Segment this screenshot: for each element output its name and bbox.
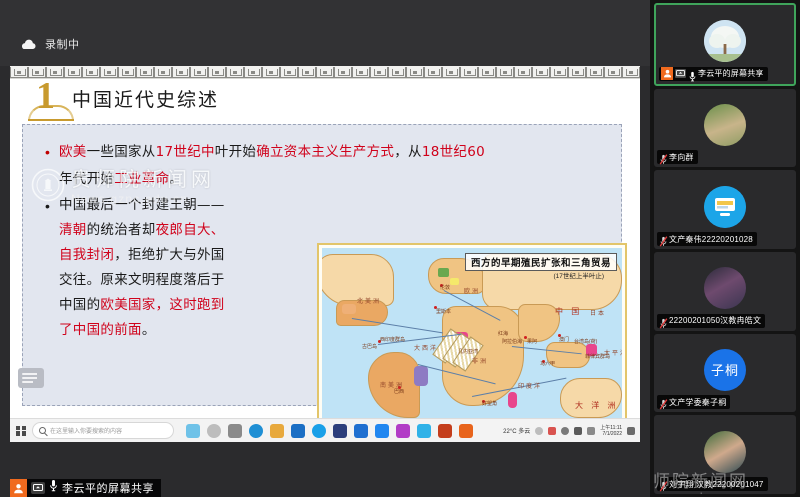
body-text: 。	[142, 322, 156, 338]
participant-tile[interactable]: 22200201050汉教冉皓文	[654, 252, 796, 331]
participant-name: 文产学委秦子桐	[669, 397, 726, 408]
task-view-icon[interactable]	[228, 424, 242, 438]
mic-muted-icon	[659, 234, 667, 244]
participant-name: 22200201050汉教冉皓文	[669, 315, 761, 326]
weather-app-icon[interactable]	[186, 424, 200, 438]
mic-muted-icon	[659, 152, 667, 162]
body-text: 中国的	[59, 297, 100, 313]
list-icon[interactable]	[18, 368, 44, 388]
bullet-item: •欧美一些国家从17世纪中叶开始确立资本主义生产方式，从18世纪60年代开始工业…	[45, 139, 615, 193]
participant-name: 李云平的屏幕共享	[698, 68, 764, 79]
map-label: 古巴岛	[362, 343, 377, 350]
tray-app-icon[interactable]	[548, 427, 556, 435]
body-text: ，从	[394, 144, 422, 160]
participant-tile[interactable]: 李向群	[654, 89, 796, 168]
map-label: 西印度群岛	[380, 336, 405, 343]
map-label: 中 国	[555, 306, 582, 317]
edge-icon[interactable]	[249, 424, 263, 438]
body-text: 叶开始	[215, 144, 256, 160]
colony-patch-britain	[438, 268, 449, 277]
fret-tile	[514, 67, 532, 78]
mic-muted-icon	[659, 397, 667, 407]
notification-center-icon[interactable]	[627, 427, 635, 435]
colony-patch-spain-mexico	[342, 304, 356, 314]
fret-tile	[550, 67, 568, 78]
map-title: 西方的早期殖民扩张和三角贸易	[465, 253, 617, 271]
shared-screen-area: 录制中 1 中国近代史综述 •欧美一些国家从17世纪中叶开始确立资本主义生产方式…	[0, 0, 650, 497]
map-label: 好望角	[482, 400, 497, 407]
map-label: 巴西	[394, 388, 404, 395]
fret-tile	[604, 67, 622, 78]
colony-patch-dutch-africa	[508, 392, 517, 408]
decorative-fret-border	[10, 66, 640, 79]
participant-sidebar[interactable]: 李云平的屏幕共享李向群文产秦伟2222020102822200201050汉教冉…	[650, 0, 800, 497]
search-placeholder: 在这里输入你要搜索的内容	[50, 426, 122, 435]
fret-tile	[172, 67, 190, 78]
mic-icon	[688, 69, 696, 79]
map-label: 几内亚湾	[458, 348, 478, 355]
map-label: 里斯本	[436, 308, 451, 315]
body-text: 的统治者却	[87, 222, 156, 238]
bullet-text: 欧美一些国家从17世纪中叶开始确立资本主义生产方式，从18世纪60年代开始工业革…	[59, 139, 615, 193]
windows-start-icon[interactable]	[10, 426, 32, 436]
fret-tile	[334, 67, 352, 78]
highlight-text: 确立资本主义生产方式	[256, 144, 394, 160]
active-speaker-name: 李云平的屏幕共享	[62, 480, 154, 496]
map-subtitle: (17世纪上半叶止)	[553, 270, 604, 280]
body-text: 中国最后一个封建王朝——	[59, 197, 225, 213]
cloud-icon	[20, 38, 36, 50]
bullet-line: 了中国的前面。	[59, 318, 285, 343]
folder-icon[interactable]	[270, 424, 284, 438]
avatar	[704, 20, 746, 62]
powerpoint-icon[interactable]	[438, 424, 452, 438]
highlight-text: 17世纪中	[156, 144, 215, 160]
slide-content-panel: •欧美一些国家从17世纪中叶开始确立资本主义生产方式，从18世纪60年代开始工业…	[22, 124, 622, 406]
bullet-line: 欧美一些国家从17世纪中叶开始确立资本主义生产方式，从18世纪60	[59, 139, 615, 166]
battery-icon[interactable]	[587, 427, 595, 435]
avatar	[704, 186, 746, 228]
map-label: 伦敦	[440, 284, 450, 291]
participant-name: 李向群	[669, 152, 694, 163]
map-label: 印度洋	[518, 381, 542, 390]
fret-tile	[586, 67, 604, 78]
map-label: 澳门	[559, 336, 569, 343]
weather-readout[interactable]: 22°C 多云	[503, 426, 530, 435]
highlight-text: 18世纪60	[422, 144, 485, 160]
bullet-line: 交往。原来文明程度落后于	[59, 268, 285, 293]
tencent-meeting-icon[interactable]	[375, 424, 389, 438]
highlight-text: 欧美国家，这时跑到	[100, 297, 224, 313]
fret-tile	[478, 67, 496, 78]
body-text: 年代开始	[59, 171, 114, 187]
fret-tile	[460, 67, 478, 78]
bullet-text: 中国最后一个封建王朝——清朝的统治者却夜郎自大、自我封闭，拒绝扩大与外国交往。原…	[59, 193, 285, 343]
mail-icon[interactable]	[354, 424, 368, 438]
screen-share-icon	[31, 482, 45, 494]
mic-muted-icon	[659, 316, 667, 326]
map-label: 台湾岛(荷)	[574, 338, 597, 345]
highlight-text: 欧美	[59, 144, 87, 160]
recording-label: 录制中	[45, 36, 80, 52]
avatar	[704, 267, 746, 309]
fret-tile	[154, 67, 172, 78]
fret-tile	[136, 67, 154, 78]
highlight-text: 了中国的前面	[59, 322, 142, 338]
bullet-line: 中国最后一个封建王朝——	[59, 193, 285, 218]
participant-tile[interactable]: 子桐文产学委秦子桐	[654, 334, 796, 413]
search-icon	[39, 427, 46, 434]
map-label: 日本	[590, 308, 606, 317]
highlight-text: 夜郎自大、	[156, 222, 225, 238]
fret-tile	[208, 67, 226, 78]
map-label: 非洲	[472, 356, 488, 365]
cortana-icon[interactable]	[207, 424, 221, 438]
fret-tile	[388, 67, 406, 78]
map-label: 红海	[498, 330, 508, 337]
bullet-line: 年代开始工业革命。	[59, 166, 615, 193]
search-input[interactable]: 在这里输入你要搜索的内容	[32, 422, 174, 439]
map-label: 马六甲	[540, 360, 555, 367]
highlight-text: 工业革命	[114, 171, 169, 187]
page-title: 中国近代史综述	[72, 85, 219, 112]
active-speaker-tag: 李云平的屏幕共享	[10, 479, 161, 497]
avatar: 子桐	[704, 349, 746, 391]
fret-tile	[262, 67, 280, 78]
slide-numeral-ornament: 1	[28, 81, 76, 121]
fret-tile	[82, 67, 100, 78]
body-text: 。	[169, 171, 183, 187]
fret-tile	[406, 67, 424, 78]
colony-patch-france	[450, 278, 459, 285]
highlight-text: 清朝	[59, 222, 87, 238]
participant-tile[interactable]: 文产秦伟22220201028	[654, 170, 796, 249]
fret-tile	[118, 67, 136, 78]
app-root: 录制中 1 中国近代史综述 •欧美一些国家从17世纪中叶开始确立资本主义生产方式…	[0, 0, 800, 497]
participant-label: 李云平的屏幕共享	[659, 67, 768, 81]
participant-name: 文产秦伟22220201028	[669, 234, 753, 245]
network-icon[interactable]	[561, 427, 569, 435]
taskbar-clock[interactable]: 上午11:11 7/1/2022	[600, 425, 622, 437]
participant-tile[interactable]: 刘宇翔 汉教22200201047贵师院新闻网News.gznc.edu.cn	[654, 415, 796, 494]
host-icon	[10, 479, 27, 497]
system-tray[interactable]: 22°C 多云 上午11:11 7/1/2022	[503, 425, 640, 437]
avatar	[704, 104, 746, 146]
fret-tile	[10, 67, 28, 78]
recording-strip: 录制中	[0, 0, 650, 66]
fret-tile	[190, 67, 208, 78]
recording-indicator: 录制中	[20, 36, 80, 52]
map-label: 欧洲	[464, 286, 480, 295]
bullet-dot-icon: •	[45, 193, 59, 343]
windows-taskbar[interactable]: 在这里输入你要搜索的内容 22°C 多云 上午11:11 7/1/2022	[10, 418, 640, 442]
bullet-line: 自我封闭，拒绝扩大与外国	[59, 243, 285, 268]
ppt-slide: 1 中国近代史综述 •欧美一些国家从17世纪中叶开始确立资本主义生产方式，从18…	[10, 66, 640, 418]
map-canvas: 中 国日本大 洋 洲欧洲非洲北美洲南美洲印度洋大西洋太平洋澳门台湾岛(荷)菲律宾…	[322, 248, 622, 418]
fret-tile	[442, 67, 460, 78]
store-icon[interactable]	[291, 424, 305, 438]
map-label: 菲律宾群岛	[585, 353, 610, 360]
screen-share-icon	[675, 69, 686, 78]
participant-tile[interactable]: 李云平的屏幕共享	[654, 3, 796, 86]
fret-tile	[568, 67, 586, 78]
slide-header: 1 中国近代史综述	[10, 81, 640, 123]
slide-numeral: 1	[36, 77, 55, 115]
fret-tile	[424, 67, 442, 78]
fret-tile	[64, 67, 82, 78]
fret-tile	[496, 67, 514, 78]
fret-tile	[226, 67, 244, 78]
share-bottom-band: 贵师院新闻网 News.gznc.edu.cn	[0, 442, 650, 497]
landmass-australia	[560, 378, 622, 418]
mic-icon	[49, 479, 58, 497]
fan-bar	[28, 119, 74, 121]
fret-tile	[316, 67, 334, 78]
mic-muted-icon	[659, 479, 667, 489]
avatar	[704, 431, 746, 473]
map-label: 大西洋	[414, 343, 438, 352]
photos-icon[interactable]	[417, 424, 431, 438]
participant-label: 文产学委秦子桐	[657, 395, 730, 409]
fret-tile	[298, 67, 316, 78]
fret-tile	[370, 67, 388, 78]
participant-label: 李向群	[657, 150, 698, 164]
w-app-icon[interactable]	[396, 424, 410, 438]
watermark-url: News.gznc.edu.cn	[654, 492, 748, 494]
wps-icon[interactable]	[333, 424, 347, 438]
map-label: 大 洋 洲	[575, 400, 618, 411]
map-label: 果阿	[527, 338, 537, 345]
fret-tile	[352, 67, 370, 78]
fret-tile	[532, 67, 550, 78]
bullet-line: 清朝的统治者却夜郎自大、	[59, 218, 285, 243]
participant-label: 22200201050汉教冉皓文	[657, 314, 765, 328]
highlight-text: 自我封闭	[59, 247, 114, 263]
fret-tile	[244, 67, 262, 78]
taskbar-app-icons[interactable]	[186, 424, 473, 438]
participant-label: 文产秦伟22220201028	[657, 232, 757, 246]
bullet-item: •中国最后一个封建王朝——清朝的统治者却夜郎自大、自我封闭，拒绝扩大与外国交往。…	[45, 193, 285, 343]
map-figure: 中 国日本大 洋 洲欧洲非洲北美洲南美洲印度洋大西洋太平洋澳门台湾岛(荷)菲律宾…	[317, 243, 627, 418]
body-text: ，拒绝扩大与外国	[114, 247, 224, 263]
participant-label: 刘宇翔 汉教22200201047	[657, 477, 768, 491]
bullet-dot-icon: •	[45, 139, 59, 193]
bullet-line: 中国的欧美国家，这时跑到	[59, 293, 285, 318]
map-label: 阿拉伯海	[502, 338, 522, 345]
participant-name: 刘宇翔 汉教22200201047	[669, 479, 764, 490]
volume-icon[interactable]	[574, 427, 582, 435]
body-text: 交往。原来文明程度落后于	[59, 272, 225, 288]
map-label: 北美洲	[357, 296, 381, 305]
chevron-up-icon[interactable]	[535, 427, 543, 435]
body-text: 一些国家从	[87, 144, 156, 160]
clock-date: 7/1/2022	[603, 431, 622, 437]
fret-tile	[100, 67, 118, 78]
skype-icon[interactable]	[312, 424, 326, 438]
colony-patch-portugal-brazil	[414, 366, 428, 386]
pdf-icon[interactable]	[459, 424, 473, 438]
fret-tile	[622, 67, 640, 78]
fret-tile	[280, 67, 298, 78]
host-icon	[661, 67, 673, 80]
